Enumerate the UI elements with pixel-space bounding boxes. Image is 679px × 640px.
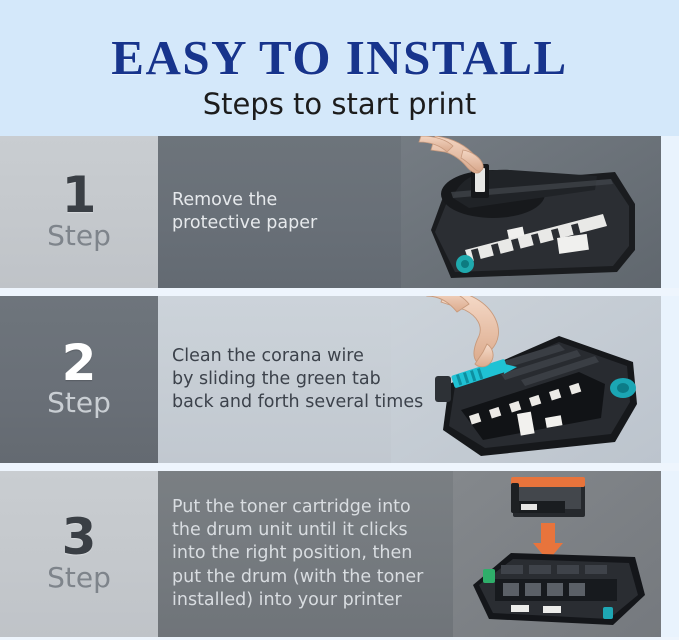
- step-instruction-3: Put the toner cartridge into the drum un…: [158, 496, 423, 612]
- page-subtitle: Steps to start print: [203, 89, 477, 121]
- step-row-3: 3 Step Put the toner cartridge into the …: [0, 471, 661, 637]
- step-number-3: 3: [62, 514, 97, 562]
- step-word-1: Step: [47, 221, 111, 252]
- step-instruction-2: Clean the corana wire by sliding the gre…: [158, 345, 423, 415]
- step-row-2: 2 Step Clean the corana wire by sliding …: [0, 296, 661, 463]
- step-word-3: Step: [47, 563, 111, 594]
- step-image-1: [401, 136, 661, 288]
- step-instruction-1: Remove the protective paper: [158, 189, 317, 236]
- right-margin-strip: [661, 136, 679, 640]
- row-divider-1: [0, 288, 679, 296]
- step-word-2: Step: [47, 388, 111, 419]
- row-divider-2: [0, 463, 679, 471]
- step-body-1: Remove the protective paper: [158, 136, 661, 288]
- header-banner: EASY TO INSTALL Steps to start print: [0, 0, 679, 136]
- step-badge-3: 3 Step: [0, 471, 158, 637]
- step-badge-2: 2 Step: [0, 296, 158, 463]
- step-body-2: Clean the corana wire by sliding the gre…: [158, 296, 661, 463]
- step-image-2: [391, 296, 661, 463]
- step-image-3: [453, 471, 661, 637]
- step-row-1: 1 Step Remove the protective paper: [0, 136, 661, 288]
- step-body-3: Put the toner cartridge into the drum un…: [158, 471, 661, 637]
- page-title: EASY TO INSTALL: [111, 33, 567, 82]
- step-number-1: 1: [62, 172, 97, 220]
- infographic-page: EASY TO INSTALL Steps to start print 1 S…: [0, 0, 679, 640]
- step-number-2: 2: [62, 340, 97, 388]
- step-badge-1: 1 Step: [0, 136, 158, 288]
